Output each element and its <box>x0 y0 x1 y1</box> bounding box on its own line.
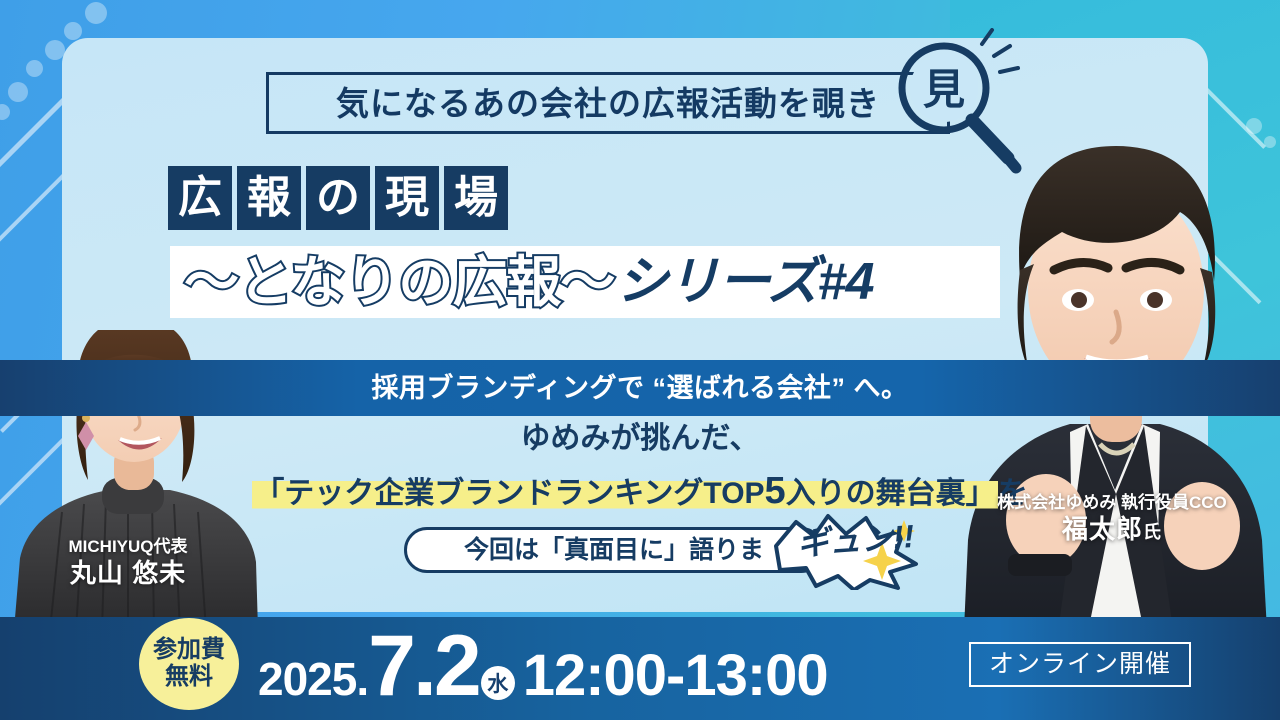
event-format-text: オンライン開催 <box>989 650 1171 678</box>
pill-callout: 今回は「真面目に」語りま <box>404 527 824 573</box>
webinar-banner: 気になるあの会社の広報活動を覗き 見 広 報 の 現 場 〜となりの広報〜 シリ… <box>0 0 1280 720</box>
free-badge-line2: 無料 <box>165 664 213 691</box>
event-datetime: 2025. 7.2 水 12:00-13:00 <box>258 630 828 709</box>
tagline-text: 気になるあの会社の広報活動を覗き <box>336 87 880 120</box>
speaker-left-name: 丸山 悠未 <box>18 557 238 590</box>
title-char-box: 広 <box>168 166 232 230</box>
title-char-box: 場 <box>444 166 508 230</box>
headline-band: 採用ブランディングで “選ばれる会社” へ。 <box>0 360 1280 416</box>
subtitle-series-text: シリーズ#4 <box>616 256 873 308</box>
decor-dot <box>26 60 43 77</box>
magnifier-icon: 見 <box>896 28 1026 178</box>
speaker-right-name: 福太郎氏 <box>962 513 1262 546</box>
copy-highlight: 「テック企業ブランドランキングTOP5入りの舞台裏」 <box>252 477 997 510</box>
free-badge: 参加費 無料 <box>139 618 239 710</box>
event-time: 12:00-13:00 <box>523 642 828 709</box>
event-year: 2025. <box>258 652 368 706</box>
decor-dot <box>64 22 82 40</box>
speaker-caption-left: MICHIYUQ代表 丸山 悠未 <box>18 536 238 590</box>
title-char-box: 現 <box>375 166 439 230</box>
burst-text: ギュン!! <box>796 520 915 560</box>
event-format-badge: オンライン開催 <box>969 642 1191 687</box>
decor-dot <box>8 82 28 102</box>
speaker-right-name-main: 福太郎 <box>1062 514 1143 544</box>
magnifier-char: 見 <box>923 66 965 113</box>
speaker-right-role: 株式会社ゆめみ 執行役員CCO <box>962 492 1262 513</box>
copy-line-2-open: 「テック企業ブランドランキングTOP <box>254 477 764 510</box>
free-badge-line1: 参加費 <box>153 637 225 664</box>
tagline-box: 気になるあの会社の広報活動を覗き <box>266 72 950 134</box>
subtitle-outline-text: 〜となりの広報〜 <box>184 255 614 310</box>
subtitle-band: 〜となりの広報〜 シリーズ#4 <box>170 246 1000 318</box>
decor-dot <box>85 2 107 24</box>
speaker-caption-right: 株式会社ゆめみ 執行役員CCO 福太郎氏 <box>962 492 1262 546</box>
event-weekday: 水 <box>481 666 515 700</box>
speaker-left-role: MICHIYUQ代表 <box>18 536 238 557</box>
speaker-right-name-suffix: 氏 <box>1143 522 1162 542</box>
event-date: 7.2 <box>368 630 479 703</box>
copy-line-2-number: 5 <box>765 470 786 512</box>
title-boxed-chars: 広 報 の 現 場 <box>168 166 508 230</box>
headline-band-text: 採用ブランディングで “選ばれる会社” へ。 <box>371 375 908 402</box>
title-char-box: の <box>306 166 370 230</box>
title-char-box: 報 <box>237 166 301 230</box>
pill-text: 今回は「真面目に」語りま <box>464 538 764 563</box>
copy-line-1: ゆめみが挑んだ、 <box>0 424 1280 454</box>
